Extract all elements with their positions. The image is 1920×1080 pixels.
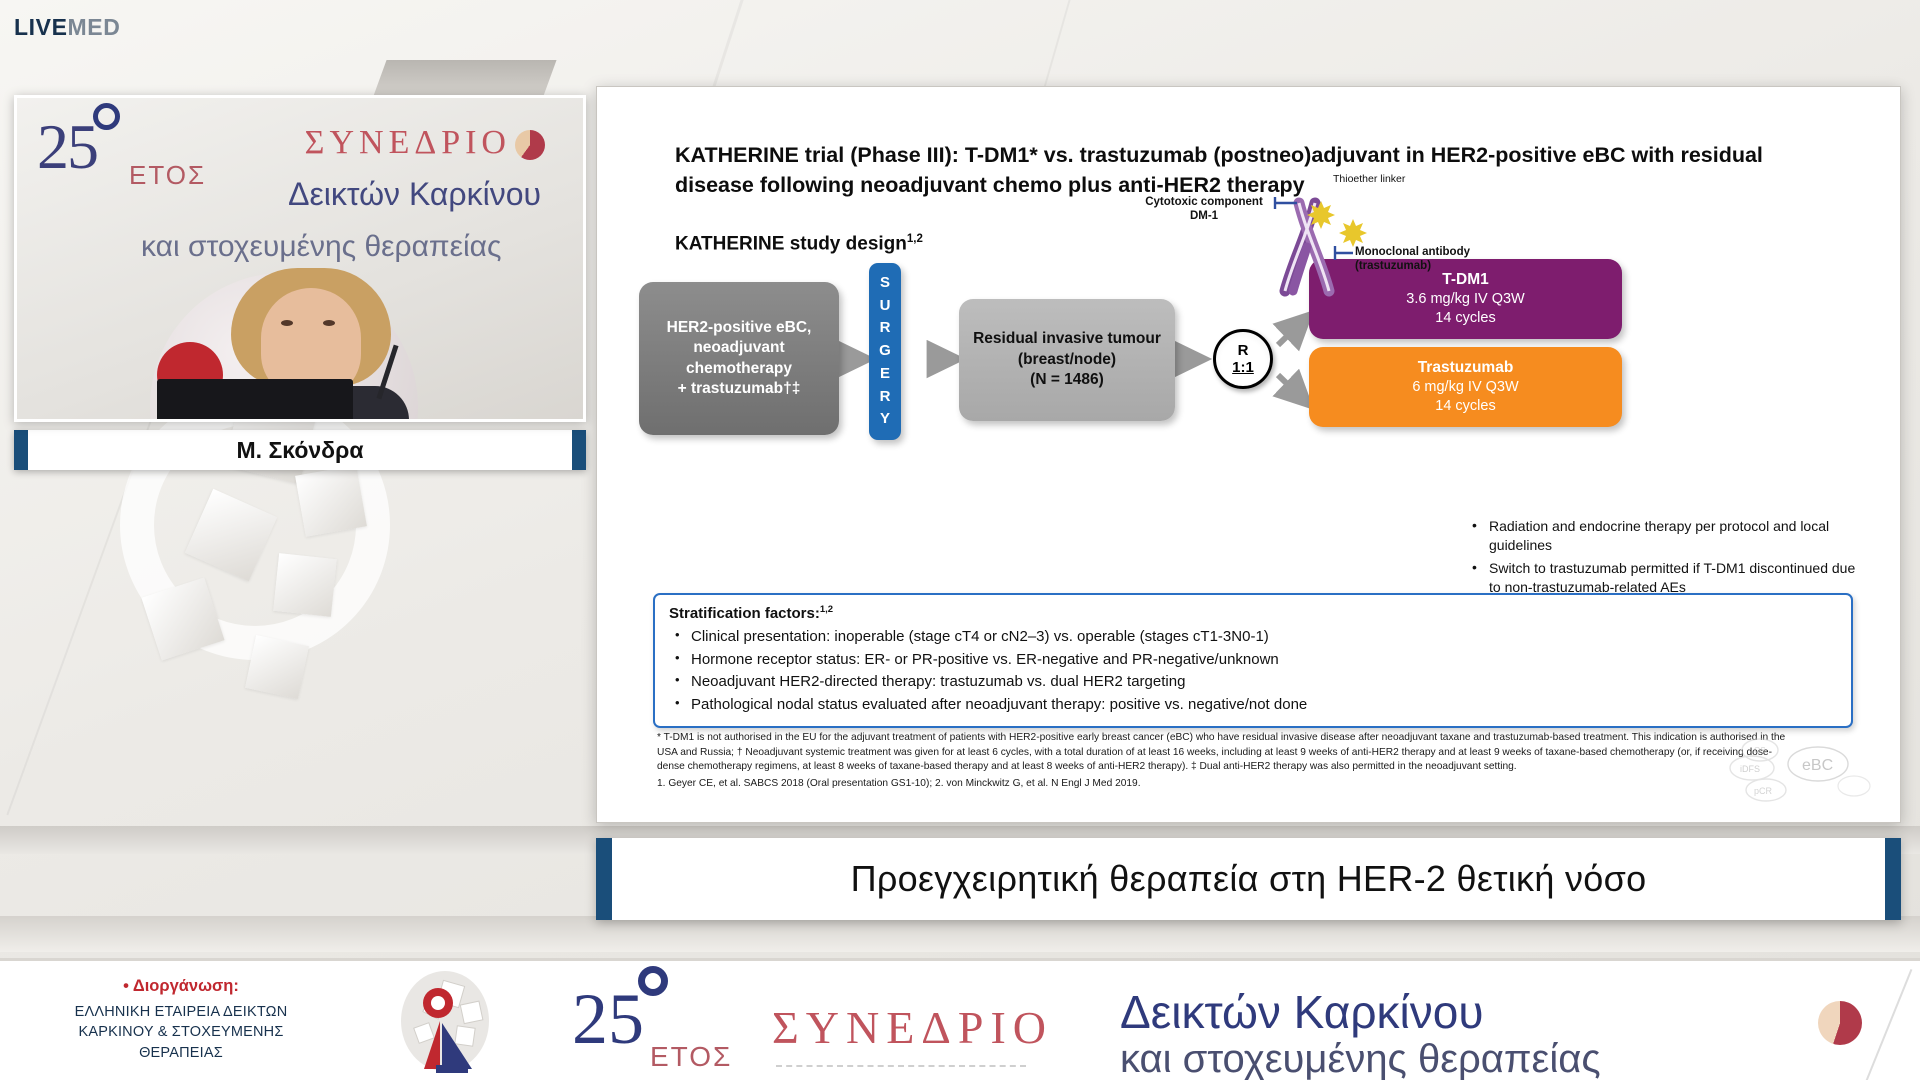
adc-illustration: Thioether linker Cytotoxic component DM-… — [1157, 195, 1487, 305]
footer-dot-icon — [1818, 1001, 1862, 1045]
video-frame[interactable]: 25 ΕΤΟΣ ΣΥΝΕΔΡΙΟ Δεικτών Καρκίνου και στ… — [14, 95, 586, 422]
svg-text:eBC: eBC — [1802, 757, 1833, 774]
stratification-factors-box: Stratification factors:1,2 Clinical pres… — [653, 593, 1853, 728]
organizer-name: ΕΛΛΗΝΙΚΗ ΕΤΑΙΡΕΙΑ ΔΕΙΚΤΩΝ ΚΑΡΚΙΝΟΥ & ΣΤΟ… — [36, 1002, 326, 1063]
slide-footnotes: * T-DM1 is not authorised in the EU for … — [657, 731, 1792, 792]
slide-caption-bar: Προεγχειρητική θεραπεία στη HER-2 θετική… — [596, 838, 1901, 920]
presentation-slide[interactable]: KATHERINE trial (Phase III): T-DM1* vs. … — [596, 86, 1901, 823]
stratification-list: Clinical presentation: inoperable (stage… — [669, 626, 1837, 716]
footnote-paragraph: * T-DM1 is not authorised in the EU for … — [657, 731, 1792, 775]
footer-synedrio: ΣΥΝΕΔΡΙΟ — [772, 1001, 1053, 1054]
population-line-2: neoadjuvant chemotherapy — [649, 338, 829, 379]
flow-box-residual-disease: Residual invasive tumour (breast/node) (… — [959, 299, 1175, 421]
caption-text: Προεγχειρητική θεραπεία στη HER-2 θετική… — [851, 858, 1647, 900]
footer-slash-decoration — [1866, 969, 1913, 1080]
svg-text:iDFS: iDFS — [1740, 764, 1760, 774]
backdrop-line2: και στοχευμένης θεραπείας — [141, 230, 501, 264]
stratification-title: Stratification factors:1,2 — [669, 604, 1837, 622]
conference-footer: • Διοργάνωση: ΕΛΛΗΝΙΚΗ ΕΤΑΙΡΕΙΑ ΔΕΙΚΤΩΝ … — [0, 958, 1920, 1080]
arm-trastuzumab-dose: 6 mg/kg IV Q3W — [1412, 378, 1518, 397]
randomization-letter: R — [1238, 342, 1249, 359]
arm-trastuzumab-name: Trastuzumab — [1418, 358, 1514, 378]
svg-text:OS: OS — [1754, 746, 1766, 755]
flow-box-population: HER2-positive eBC, neoadjuvant chemother… — [639, 282, 839, 435]
arm-trastuzumab-cycles: 14 cycles — [1435, 397, 1495, 416]
slide-watermark: OS iDFS eBC pCR — [1726, 734, 1876, 806]
footer-title-line1: Δεικτών Καρκίνου — [1120, 985, 1484, 1039]
residual-line-2: (breast/node) — [1018, 350, 1116, 370]
footer-etos: ΕΤΟΣ — [650, 1041, 732, 1073]
flow-box-surgery: SURGERY — [869, 263, 901, 440]
footer-title-line2: και στοχευμένης θεραπείας — [1120, 1037, 1601, 1080]
adc-label-cytotoxic: Cytotoxic component DM-1 — [1133, 195, 1275, 224]
backdrop-synedrio: ΣΥΝΕΔΡΙΟ — [305, 124, 511, 162]
population-line-3: + trastuzumab†‡ — [678, 379, 801, 399]
footer-dashed-divider — [776, 1065, 1026, 1067]
stratification-item: Pathological nodal status evaluated afte… — [669, 694, 1837, 717]
surgery-label: SURGERY — [879, 272, 891, 432]
backdrop-line1: Δεικτών Καρκίνου — [288, 176, 541, 213]
right-bullet-item: • Radiation and endocrine therapy per pr… — [1469, 517, 1869, 556]
randomization-node: R 1:1 — [1213, 329, 1273, 389]
speaker-video-panel[interactable]: 25 ΕΤΟΣ ΣΥΝΕΔΡΙΟ Δεικτών Καρκίνου και στ… — [14, 95, 586, 470]
livemed-logo: LIVEMED — [14, 14, 120, 41]
stratification-item: Clinical presentation: inoperable (stage… — [669, 626, 1837, 649]
backdrop-etos: ΕΤΟΣ — [129, 160, 206, 191]
svg-text:pCR: pCR — [1754, 786, 1773, 796]
logo-live: LIVE — [14, 14, 68, 40]
residual-line-3: (N = 1486) — [1030, 370, 1104, 390]
population-line-1: HER2-positive eBC, — [667, 318, 812, 338]
stratification-item: Hormone receptor status: ER- or PR-posit… — [669, 649, 1837, 672]
stratification-item: Neoadjuvant HER2-directed therapy: trast… — [669, 671, 1837, 694]
residual-line-1: Residual invasive tumour — [973, 329, 1161, 349]
backdrop-dot-icon — [515, 130, 545, 160]
speaker-name: Μ. Σκόνδρα — [237, 437, 364, 464]
backdrop-year: 25 — [37, 110, 120, 184]
footnote-references: 1. Geyer CE, et al. SABCS 2018 (Oral pre… — [657, 777, 1792, 792]
right-bullet-item: • Switch to trastuzumab permitted if T-D… — [1469, 559, 1869, 598]
right-side-bullet-list: • Radiation and endocrine therapy per pr… — [1469, 517, 1869, 600]
organizer-block: • Διοργάνωση: ΕΛΛΗΝΙΚΗ ΕΤΑΙΡΕΙΑ ΔΕΙΚΤΩΝ … — [36, 977, 326, 1063]
adc-label-mab: Monoclonal antibody (trastuzumab) — [1355, 245, 1505, 274]
laptop — [157, 379, 353, 422]
stratification-title-superscript: 1,2 — [820, 604, 833, 615]
randomization-ratio: 1:1 — [1232, 359, 1254, 376]
organizer-heading: • Διοργάνωση: — [36, 977, 326, 996]
adc-label-thioether: Thioether linker — [1333, 173, 1405, 186]
conference-emblem-icon — [380, 969, 510, 1077]
arm-tdm1-cycles: 14 cycles — [1435, 309, 1495, 328]
speaker-name-plate: Μ. Σκόνδρα — [14, 430, 586, 470]
logo-med: MED — [68, 14, 121, 40]
flow-box-arm-trastuzumab: Trastuzumab 6 mg/kg IV Q3W 14 cycles — [1309, 347, 1622, 427]
watermark-clouds-icon: OS iDFS eBC pCR — [1726, 734, 1876, 806]
